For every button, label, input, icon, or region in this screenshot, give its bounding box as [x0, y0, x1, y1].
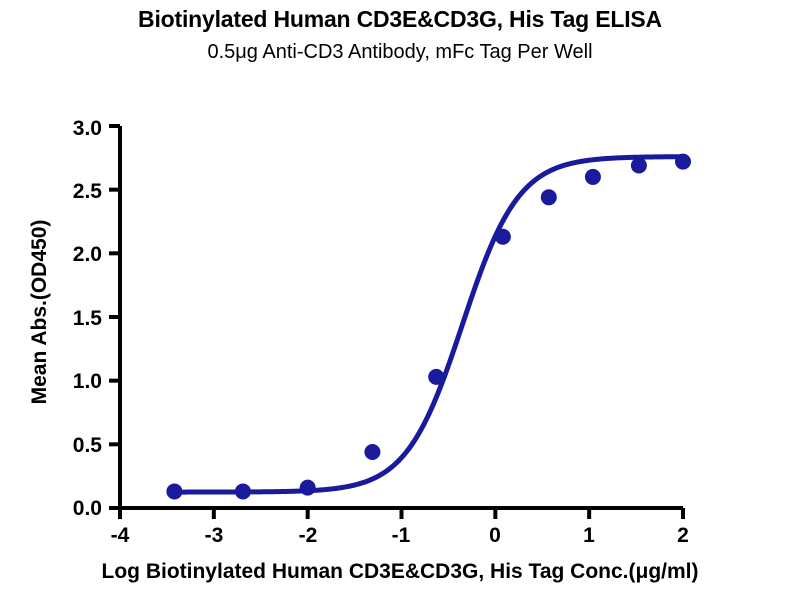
data-point	[166, 483, 182, 499]
data-point	[235, 483, 251, 499]
data-point	[675, 154, 691, 170]
data-point	[495, 229, 511, 245]
elisa-chart-figure: Biotinylated Human CD3E&CD3G, His Tag EL…	[0, 0, 800, 600]
data-point	[631, 157, 647, 173]
fit-curve	[174, 157, 683, 492]
plot-canvas	[0, 0, 800, 600]
data-points	[166, 154, 691, 500]
data-point	[585, 169, 601, 185]
data-point	[428, 369, 444, 385]
data-point	[541, 189, 557, 205]
data-point	[364, 444, 380, 460]
data-point	[300, 480, 316, 496]
